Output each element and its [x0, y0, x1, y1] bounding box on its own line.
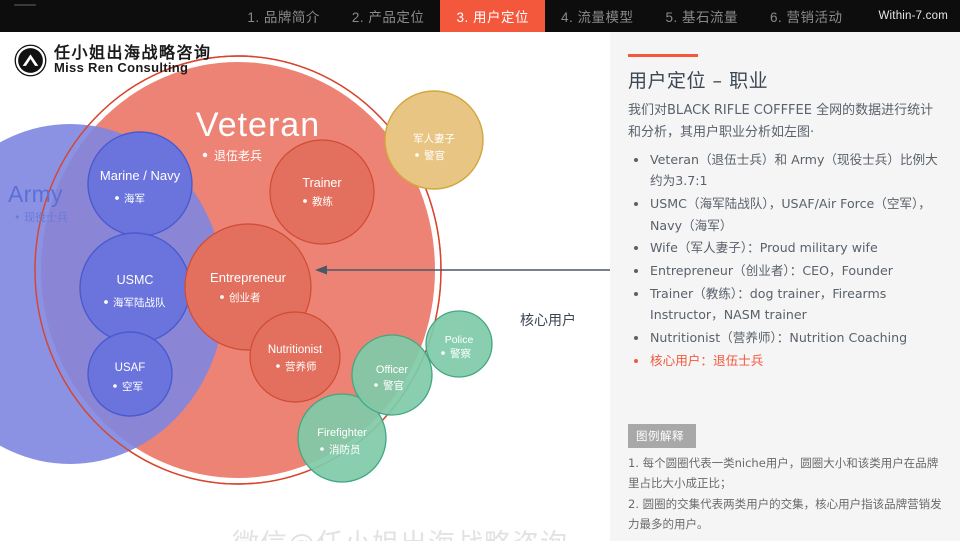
bubble-officer-dot	[374, 383, 378, 387]
bubble-trainer-dot	[303, 199, 307, 203]
bubble-entrepreneur-dot	[220, 295, 224, 299]
right-info-panel: 用户定位 – 职业 我们对BLACK RIFLE COFFFEE 全网的数据进行…	[610, 32, 960, 541]
bubble-usmc[interactable]: USMC 海军陆战队	[80, 233, 190, 343]
bullet-item-2: USMC（海军陆战队），USAF/Air Force（空军），Navy（海军）	[628, 193, 944, 236]
diagram-svg: Marine / Navy 海军 USMC 海军陆战队 USAF 空军 Vete…	[0, 32, 610, 541]
page-title: 用户定位 – 职业	[628, 66, 944, 93]
bubble-officer-sub: 警官	[383, 379, 404, 392]
logo-mountain-icon	[14, 44, 47, 77]
bubble-nutritionist-dot	[276, 364, 280, 368]
accent-rule	[628, 54, 698, 57]
nav-tab-list: 1. 品牌简介 2. 产品定位 3. 用户定位 4. 流量模型 5. 基石流量 …	[231, 0, 858, 32]
bubble-firefighter-title: Firefighter	[317, 427, 367, 439]
bubble-veteran-title: Veteran	[196, 106, 320, 144]
bubble-firefighter-sub: 消防员	[329, 443, 361, 456]
nav-tab-1[interactable]: 1. 品牌简介	[231, 0, 336, 32]
bubble-veteran-dot	[203, 153, 207, 157]
bubble-veteran-sub: 退伍老兵	[214, 149, 262, 163]
bullet-item-7-core-user: 核心用户：退伍士兵	[628, 350, 944, 372]
logo-text-block: 任小姐出海战略咨询 Miss Ren Consulting	[54, 45, 212, 77]
legend-title: 图例解释	[628, 424, 696, 448]
bubble-nutritionist-sub: 营养师	[285, 360, 317, 373]
bubble-usmc-title: USMC	[117, 273, 154, 287]
bubble-trainer[interactable]: Trainer 教练	[270, 140, 374, 244]
bubble-wife-dot	[415, 153, 419, 157]
topbar-scuff-mark	[14, 4, 36, 6]
bubble-usaf-dot	[113, 384, 117, 388]
logo-text-en: Miss Ren Consulting	[54, 61, 212, 76]
bubble-trainer-sub: 教练	[312, 195, 333, 208]
bubble-marine-navy[interactable]: Marine / Navy 海军	[88, 132, 192, 236]
bubble-firefighter-dot	[320, 447, 324, 451]
legend-body: 1. 每个圆圈代表一类niche用户，圆圈大小和该类用户在品牌里占比大小成正比；…	[628, 453, 942, 535]
bubble-usaf-sub: 空军	[122, 380, 143, 393]
bubble-entrepreneur-title: Entrepreneur	[210, 270, 287, 285]
bullet-item-4: Entrepreneur（创业者）：CEO，Founder	[628, 260, 944, 282]
venn-bubble-diagram: Marine / Navy 海军 USMC 海军陆战队 USAF 空军 Vete…	[0, 32, 610, 541]
bubble-usmc-sub: 海军陆战队	[113, 296, 166, 309]
bullet-item-1: Veteran（退伍士兵）和 Army（现役士兵）比例大约为3.7:1	[628, 149, 944, 192]
bubble-usaf-title: USAF	[115, 362, 146, 374]
bubble-wife[interactable]: 军人妻子 警官	[385, 91, 483, 189]
bubble-officer[interactable]: Officer 警官	[352, 335, 432, 415]
logo-text-cn: 任小姐出海战略咨询	[54, 45, 212, 62]
bubble-nutritionist-title: Nutritionist	[268, 344, 323, 356]
bubble-marine-navy-sub: 海军	[124, 192, 145, 205]
top-navigation-bar: 1. 品牌简介 2. 产品定位 3. 用户定位 4. 流量模型 5. 基石流量 …	[0, 0, 960, 32]
bullet-list: Veteran（退伍士兵）和 Army（现役士兵）比例大约为3.7:1 USMC…	[628, 149, 944, 372]
bubble-nutritionist[interactable]: Nutritionist 营养师	[250, 312, 340, 402]
army-label-group: Army • 现役士兵	[8, 182, 68, 225]
bubble-usmc-dot	[104, 300, 108, 304]
bullet-item-6: Nutritionist（营养师）：Nutrition Coaching	[628, 327, 944, 349]
bubble-police-title: Police	[445, 334, 474, 346]
panel-intro-text: 我们对BLACK RIFLE COFFFEE 全网的数据进行统计和分析，其用户职…	[628, 100, 944, 145]
bullet-item-5: Trainer（教练）：dog trainer，Firearms Instruc…	[628, 283, 944, 326]
core-user-annotation: 核心用户	[520, 310, 576, 330]
nav-tab-5[interactable]: 5. 基石流量	[649, 0, 754, 32]
bubble-police-sub: 警察	[450, 347, 471, 360]
nav-tab-2[interactable]: 2. 产品定位	[336, 0, 441, 32]
legend-line-1: 1. 每个圆圈代表一类niche用户，圆圈大小和该类用户在品牌里占比大小成正比；	[628, 453, 942, 494]
army-sublabel: • 现役士兵	[14, 209, 68, 225]
bubble-officer-title: Officer	[376, 364, 409, 376]
wechat-watermark: 微信@任小姐出海战略咨询	[232, 522, 568, 541]
bubble-wife-sub: 警官	[424, 149, 445, 162]
slide-root: 1. 品牌简介 2. 产品定位 3. 用户定位 4. 流量模型 5. 基石流量 …	[0, 0, 960, 541]
bullet-item-3: Wife（军人妻子）：Proud military wife	[628, 237, 944, 259]
bubble-wife-title: 军人妻子	[413, 132, 455, 145]
nav-tab-4[interactable]: 4. 流量模型	[545, 0, 650, 32]
bubble-usaf[interactable]: USAF 空军	[88, 332, 172, 416]
legend-line-2: 2. 圆圈的交集代表两类用户的交集，核心用户指该品牌营销发力最多的用户。	[628, 494, 942, 535]
nav-tab-3[interactable]: 3. 用户定位	[440, 0, 545, 32]
company-logo: 任小姐出海战略咨询 Miss Ren Consulting	[14, 44, 212, 77]
bubble-trainer-title: Trainer	[302, 176, 341, 190]
nav-tab-6[interactable]: 6. 营销活动	[754, 0, 859, 32]
bubble-marine-navy-title: Marine / Navy	[100, 168, 181, 183]
army-label: Army	[8, 182, 68, 207]
legend-explanation-box: 图例解释 1. 每个圆圈代表一类niche用户，圆圈大小和该类用户在品牌里占比大…	[628, 424, 942, 535]
brand-watermark: Within-7.com	[859, 0, 960, 32]
bubble-marine-navy-dot	[115, 196, 119, 200]
bubble-entrepreneur-sub: 创业者	[229, 291, 261, 304]
bubble-police[interactable]: Police 警察	[426, 311, 492, 377]
bubble-police-dot	[441, 351, 445, 355]
